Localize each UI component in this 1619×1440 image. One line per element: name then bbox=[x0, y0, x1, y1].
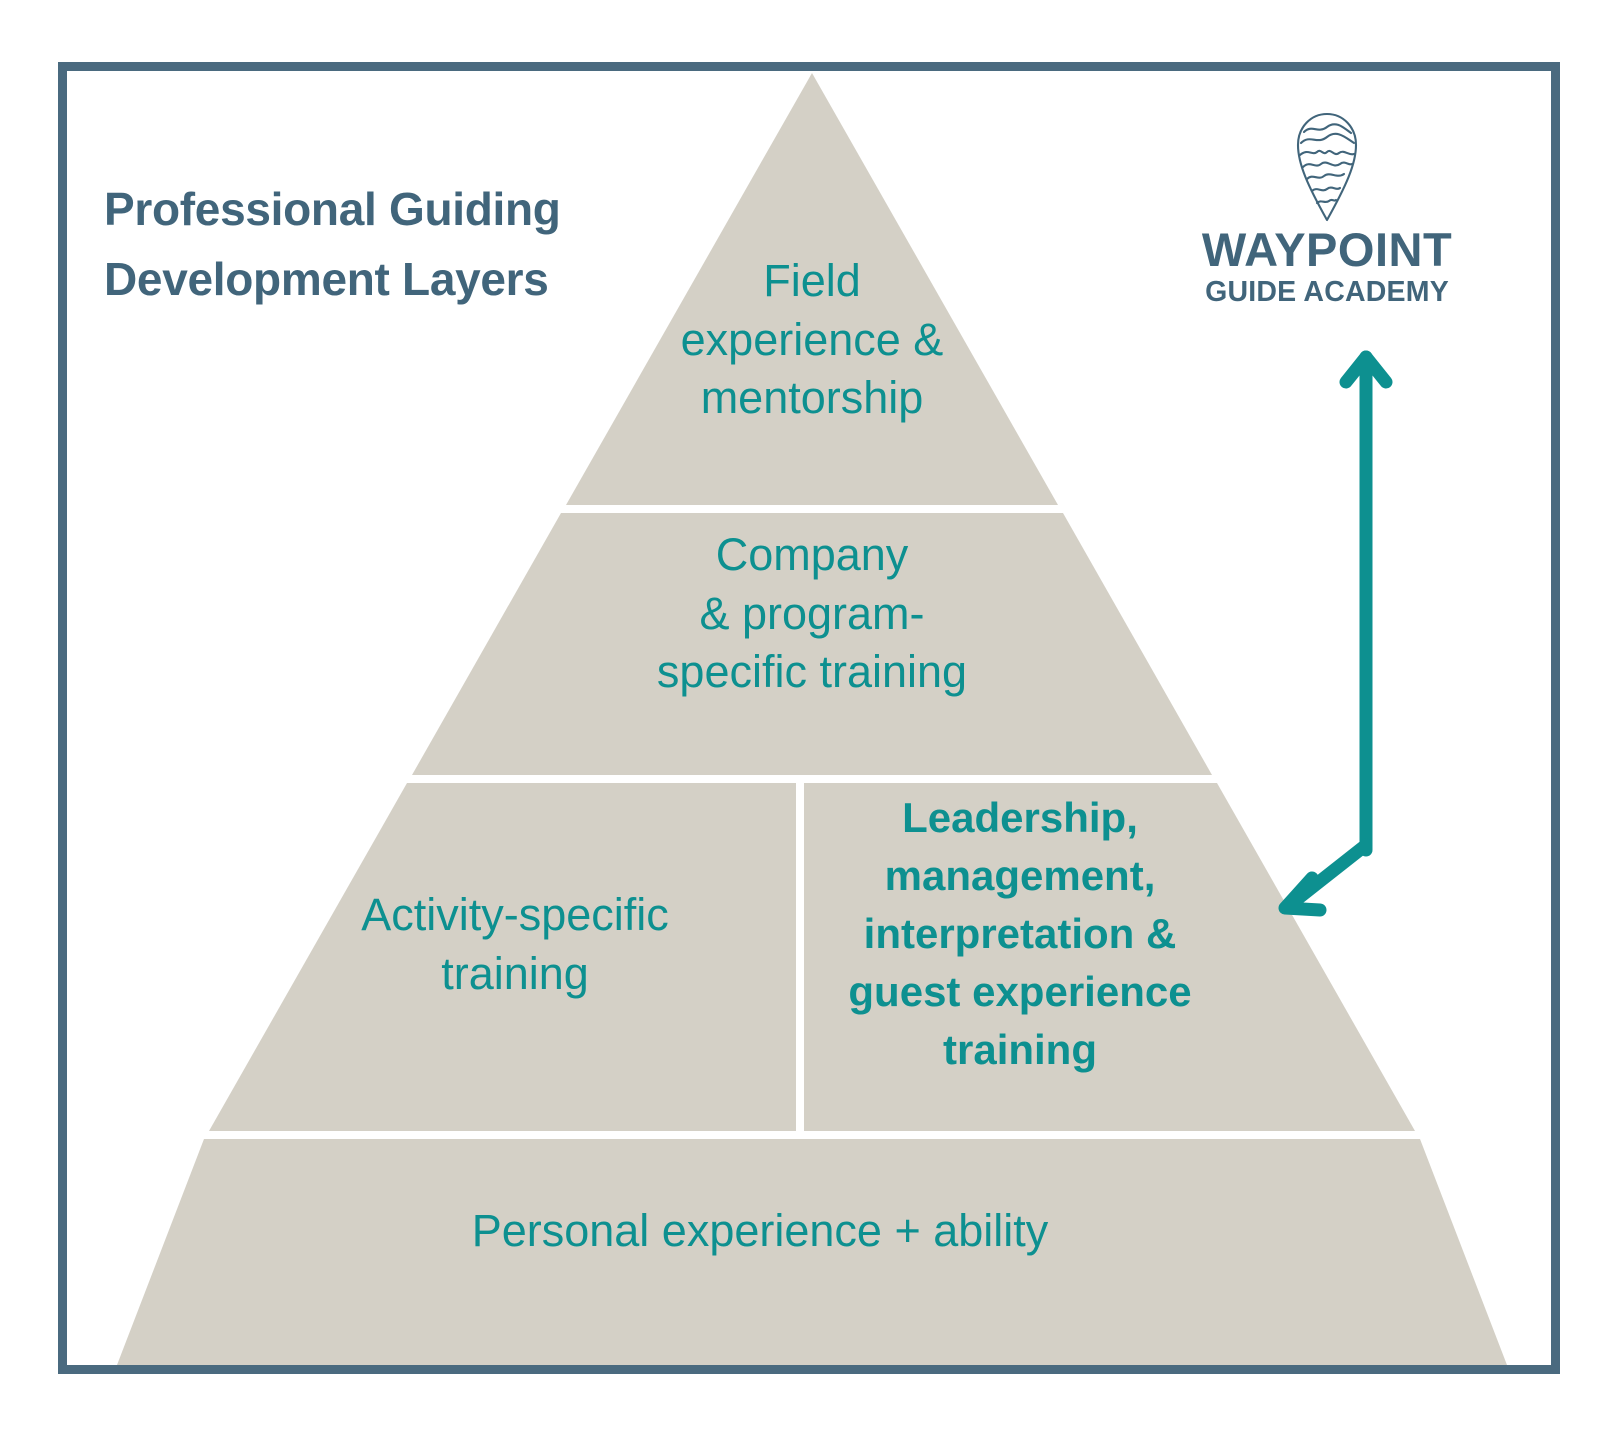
tier-line: mentorship bbox=[592, 369, 1032, 428]
tier-line: Company bbox=[552, 526, 1072, 585]
brand-subtitle: GUIDE ACADEMY bbox=[1192, 278, 1462, 307]
tier-line: Activity-specific bbox=[280, 886, 750, 945]
pyramid-tier-label-leadership-management: Leadership, management, interpretation &… bbox=[810, 789, 1230, 1079]
pyramid-tier-label-activity-specific: Activity-specific training bbox=[280, 886, 750, 1003]
arrow-head-down-left bbox=[1285, 878, 1320, 910]
tier-line: experience & bbox=[592, 311, 1032, 370]
tier-line: specific training bbox=[552, 643, 1072, 702]
bidirectional-progression-arrow bbox=[1250, 330, 1410, 930]
pyramid-tier-label-personal-experience: Personal experience + ability bbox=[330, 1202, 1190, 1261]
pyramid-tier-label-field-experience: Field experience & mentorship bbox=[592, 252, 1032, 428]
tier-line: Personal experience + ability bbox=[330, 1202, 1190, 1261]
tier-line: training bbox=[280, 945, 750, 1004]
waypoint-topographic-pin-icon bbox=[1296, 112, 1358, 222]
tier-line: Leadership, bbox=[810, 789, 1230, 847]
page-title-line-1: Professional Guiding bbox=[104, 175, 704, 245]
tier-line: interpretation & bbox=[810, 905, 1230, 963]
tier-line: training bbox=[810, 1021, 1230, 1079]
tier-line: management, bbox=[810, 847, 1230, 905]
diagram-canvas: Professional Guiding Development Layers … bbox=[0, 0, 1619, 1440]
brand-logo: WAYPOINT GUIDE ACADEMY bbox=[1192, 112, 1462, 307]
tier-line: guest experience bbox=[810, 963, 1230, 1021]
pyramid-tier-label-company-program: Company & program- specific training bbox=[552, 526, 1072, 702]
tier-line: Field bbox=[592, 252, 1032, 311]
tier-line: & program- bbox=[552, 585, 1072, 644]
brand-wordmark: WAYPOINT bbox=[1192, 226, 1462, 273]
